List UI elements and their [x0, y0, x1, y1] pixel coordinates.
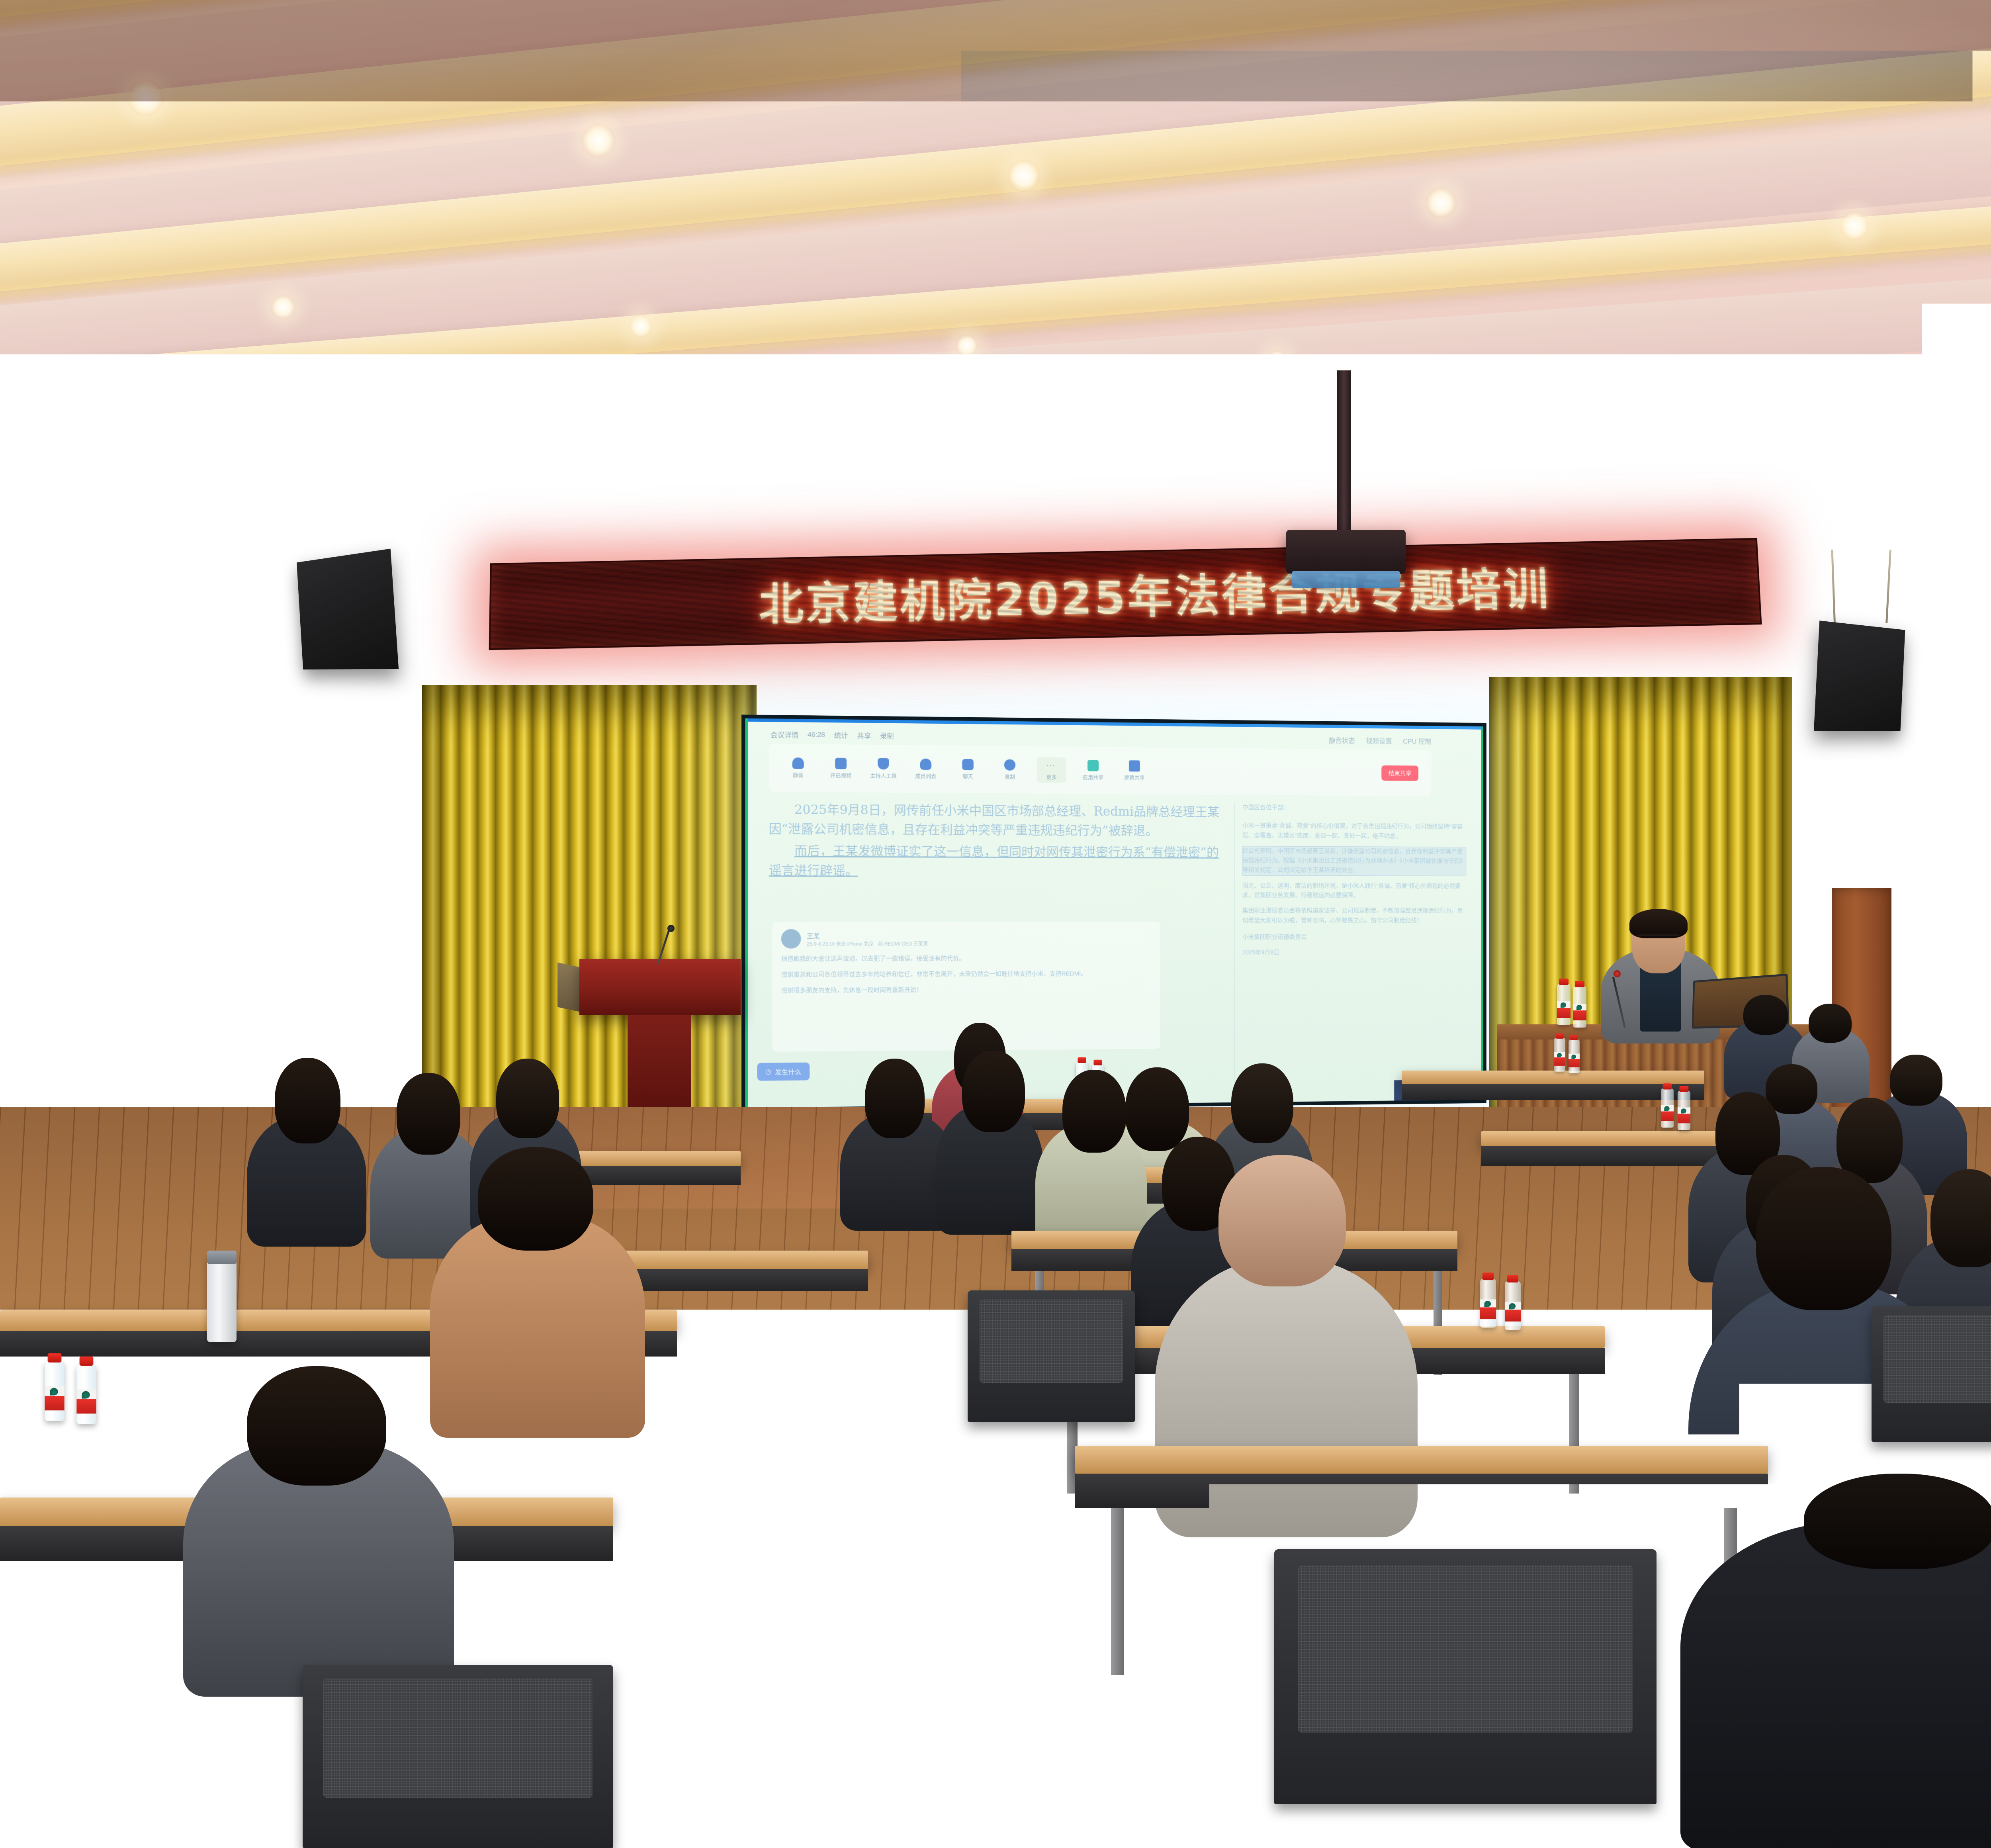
downlight — [581, 123, 616, 158]
slot-light — [1170, 450, 1291, 474]
bottle — [1557, 984, 1571, 1025]
toolbar-video-label: 开启视频 — [830, 771, 852, 779]
conference-room-scene: 北京建机院2025年法律合规专题培训 会议详情 46:28 统计 共享 录制 静… — [0, 0, 1991, 1848]
exit-sign-text: 安全出口 — [1955, 827, 1982, 837]
toolbar-host-tools-label: 主持人工具 — [870, 771, 897, 779]
wall-notice — [1914, 910, 1960, 971]
camera-icon — [835, 758, 847, 769]
toolbar-record-label: 录制 — [1005, 773, 1015, 780]
meeting-meta-left: 会议详情 46:28 统计 共享 录制 — [771, 729, 894, 741]
desk — [1075, 1446, 1768, 1474]
toolbar-video-button[interactable]: 开启视频 — [825, 758, 856, 779]
desk-front-panel — [1402, 1084, 1704, 1100]
side-paragraph-2: 经公司查明，中国区市场部原王某某，涉嫌泄露公司机密信息，且存在利益冲突等严重违规… — [1242, 846, 1466, 876]
record-icon — [1004, 759, 1015, 770]
ellipsis-icon: ··· — [1046, 760, 1057, 771]
ceiling-speaker-right — [1814, 621, 1905, 731]
side-paragraph-3: 阳光、公正、透明、廉洁的职场环境，是小米人践行“真诚、热爱”核心价值观的必然要求… — [1242, 881, 1466, 901]
slide-paragraph-2: 而后，王某发微博证实了这一信息，但同时对网传其泄密行为系“有偿泄密”的谣言进行辟… — [769, 842, 1223, 881]
toolbar-members-label: 成员列表 — [915, 772, 936, 780]
video-settings-dropdown[interactable]: 视频设置 — [1366, 735, 1392, 745]
avatar — [781, 929, 801, 949]
bottle — [1480, 1279, 1496, 1328]
exit-sign: 安全出口 — [1948, 823, 1989, 841]
downlight — [167, 478, 185, 495]
led-banner-text: 北京建机院2025年法律合规专题培训 — [699, 553, 1552, 635]
glasses-icon — [1636, 934, 1680, 942]
lectern-body — [628, 1015, 691, 1108]
bottle — [1661, 1088, 1674, 1128]
weibo-meta: 25-9-8 23:10 来自 iPhone 北京 · 前 REDMI CEO … — [807, 940, 928, 947]
bottle — [1554, 1038, 1565, 1071]
meeting-timer: 46:28 — [808, 730, 825, 739]
chair[interactable] — [1274, 1549, 1657, 1804]
weibo-post-header: 王某 25-9-8 23:10 来自 iPhone 北京 · 前 REDMI C… — [781, 929, 1152, 949]
downlight — [1426, 187, 1457, 218]
toolbar-more-button[interactable]: ··· 更多 — [1037, 757, 1066, 783]
projector-mount-pole — [1337, 370, 1351, 534]
slide-action-button[interactable]: ◷ 发生什么 — [757, 1063, 810, 1081]
clock-icon: ◷ — [765, 1068, 771, 1076]
chair[interactable] — [303, 1665, 613, 1848]
weibo-body-1: 很抱歉我的大意让这声波动，过去犯了一些错误，接受该有的代价。 — [781, 953, 1152, 964]
projection-screen: 会议详情 46:28 统计 共享 录制 静音状态 视频设置 CPU 控制 静音 … — [741, 715, 1486, 1111]
desk — [1402, 1071, 1704, 1084]
presenter-hair — [1629, 909, 1688, 938]
toolbar-mute-button[interactable]: 静音 — [783, 758, 814, 779]
thermos-bottle — [207, 1255, 237, 1342]
weibo-author: 王某 — [807, 930, 928, 940]
toolbar-screen-share-label: 屏幕共享 — [1124, 773, 1145, 781]
presenter-microphone-head — [1614, 970, 1621, 977]
screen-icon — [1129, 760, 1140, 771]
cpu-control-label[interactable]: CPU 控制 — [1403, 736, 1432, 746]
toolbar-chat-button[interactable]: 聊天 — [953, 759, 983, 780]
meeting-detail-label[interactable]: 会议详情 — [771, 729, 798, 740]
downlight — [1752, 370, 1773, 391]
toolbar-app-share-button[interactable]: 应用共享 — [1078, 760, 1108, 781]
meeting-toolbar: 静音 开启视频 主持人工具 成员列表 聊天 — [769, 744, 1432, 797]
weibo-body-2: 感谢雷总和公司各位领导过去多年的培养和信任，非常不舍离开，未来仍然会一如既往地支… — [781, 969, 1152, 980]
bottle — [45, 1361, 64, 1421]
shield-icon — [878, 758, 889, 770]
side-signature: 小米集团职业道德委员会 — [1242, 932, 1466, 942]
chair[interactable] — [968, 1290, 1135, 1422]
toolbar-chat-label: 聊天 — [962, 772, 973, 780]
weibo-body-3: 感谢很多朋友的支持，先休息一段时间再重新开始！ — [781, 984, 1152, 996]
toolbar-mute-label: 静音 — [793, 771, 804, 779]
bottle — [1678, 1091, 1690, 1130]
toolbar-app-share-label: 应用共享 — [1083, 773, 1103, 781]
side-paragraph-4: 集团职业道德委员会将依照国家法律、公司规章制度，不断加强整治违规违纪行为，恳切希… — [1242, 906, 1466, 925]
bottle — [1505, 1281, 1521, 1330]
ceiling-projector — [1286, 530, 1406, 574]
lectern-top — [579, 959, 741, 1015]
chat-icon — [962, 759, 973, 770]
mute-status-dropdown[interactable]: 静音状态 — [1329, 735, 1355, 745]
downlight — [1007, 159, 1040, 192]
microphone-icon — [792, 758, 804, 769]
share-indicator-icon[interactable]: 共享 — [857, 730, 871, 740]
downlight — [629, 315, 652, 338]
side-date: 2025年9月8日 — [1242, 948, 1466, 958]
downlight — [271, 295, 295, 319]
end-share-button[interactable]: 结束共享 — [1381, 765, 1418, 781]
apps-icon — [1087, 760, 1099, 771]
toolbar-record-button[interactable]: 录制 — [995, 759, 1025, 780]
downlight — [956, 335, 978, 357]
desk-leg — [1111, 1508, 1124, 1675]
bottle — [1573, 986, 1586, 1028]
ceiling-speaker-left — [297, 549, 399, 670]
side-paragraph-1: 小米一贯秉承“真诚、热爱”的核心价值观，对于各类违规违纪行为，公司始终坚持“零容… — [1242, 821, 1466, 842]
slide-action-label: 发生什么 — [775, 1067, 801, 1077]
bottle — [1569, 1039, 1580, 1073]
stage-curtain-left — [422, 685, 757, 1155]
bottle — [76, 1364, 96, 1424]
toolbar-more-label: 更多 — [1046, 773, 1057, 780]
chair[interactable] — [1872, 1306, 1991, 1442]
thermos-cap — [207, 1251, 237, 1264]
downlight — [1840, 211, 1869, 241]
desk-front-panel — [1075, 1474, 1768, 1508]
downlight — [127, 80, 164, 116]
slide-paragraph-1: 2025年9月8日，网传前任小米中国区市场部总经理、Redmi品牌总经理王某因“… — [769, 800, 1223, 841]
lectern-microphone-head — [667, 925, 675, 932]
record-indicator-icon[interactable]: 录制 — [880, 730, 894, 741]
meeting-meta-right: 静音状态 视频设置 CPU 控制 — [1329, 735, 1432, 746]
toolbar-host-tools-button[interactable]: 主持人工具 — [868, 758, 899, 779]
slide-side-column: 中国区各位干部： 小米一贯秉承“真诚、热爱”的核心价值观，对于各类违规违纪行为，… — [1234, 803, 1466, 1083]
people-icon — [920, 759, 932, 770]
side-heading: 中国区各位干部： — [1242, 803, 1466, 814]
toolbar-members-button[interactable]: 成员列表 — [911, 758, 941, 779]
downlight — [1266, 350, 1288, 372]
emergency-light — [1911, 820, 1946, 836]
stats-icon[interactable]: 统计 — [834, 730, 848, 740]
toolbar-screen-share-button[interactable]: 屏幕共享 — [1120, 760, 1149, 781]
